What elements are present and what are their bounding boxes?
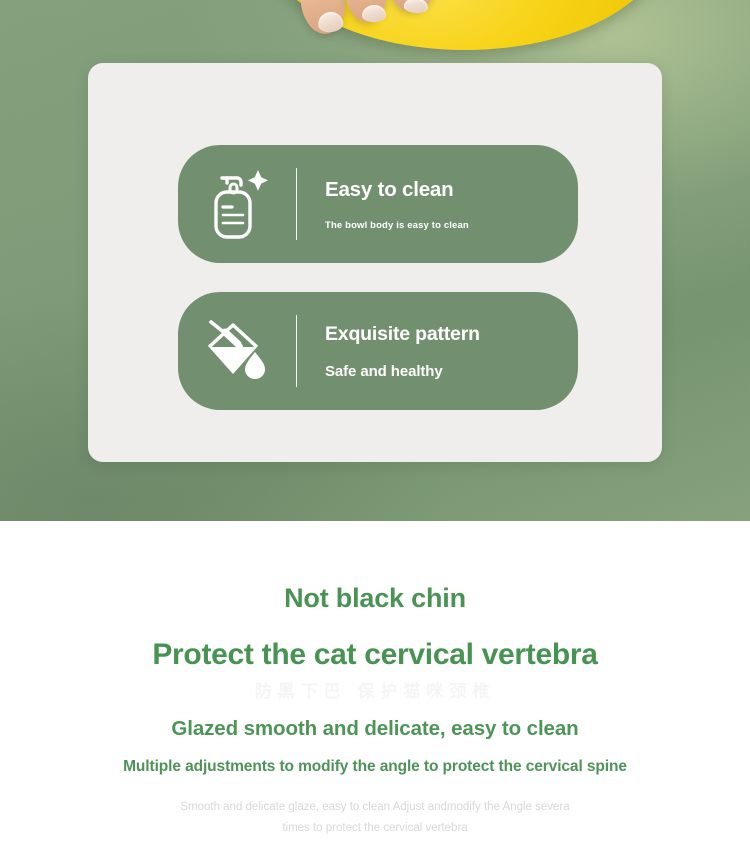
feature-subtitle: Safe and healthy [325, 364, 480, 381]
bottom-copy-section: Not black chin Protect the cat cervical … [0, 521, 750, 859]
card-text-group: Easy to clean The bowl body is easy to c… [325, 144, 469, 264]
fineprint-line-1: Smooth and delicate glaze, easy to clean… [0, 797, 750, 818]
feature-panel: Easy to clean The bowl body is easy to c… [88, 63, 662, 462]
feature-subtitle: The bowl body is easy to clean [325, 221, 469, 231]
fineprint-text: Smooth and delicate glaze, easy to clean… [0, 797, 750, 840]
headline-not-black-chin: Not black chin [0, 583, 750, 614]
card-divider [296, 315, 297, 387]
ghost-watermark-text: 防黑下巴 保护猫咪颈椎 [0, 677, 750, 702]
feature-card-exquisite-pattern[interactable]: Exquisite pattern Safe and healthy [178, 292, 578, 410]
feature-title: Exquisite pattern [325, 324, 480, 345]
headline-protect-cervical-vertebra: Protect the cat cervical vertebra [0, 638, 750, 672]
feature-title: Easy to clean [325, 179, 469, 202]
soap-dispenser-sparkle-icon [178, 145, 296, 263]
fineprint-line-2: times to protect the cervical vertebra [0, 818, 750, 839]
card-divider [296, 168, 297, 240]
headline-multiple-adjustments: Multiple adjustments to modify the angle… [0, 758, 750, 776]
hero-photo-section: Easy to clean The bowl body is easy to c… [0, 0, 750, 521]
product-detail-page: Easy to clean The bowl body is easy to c… [0, 0, 750, 859]
feature-card-easy-to-clean[interactable]: Easy to clean The bowl body is easy to c… [178, 145, 578, 263]
gem-brush-droplet-icon [178, 292, 296, 410]
fingernail [362, 5, 387, 23]
headline-glazed-smooth: Glazed smooth and delicate, easy to clea… [0, 717, 750, 741]
card-text-group: Exquisite pattern Safe and healthy [325, 291, 480, 411]
